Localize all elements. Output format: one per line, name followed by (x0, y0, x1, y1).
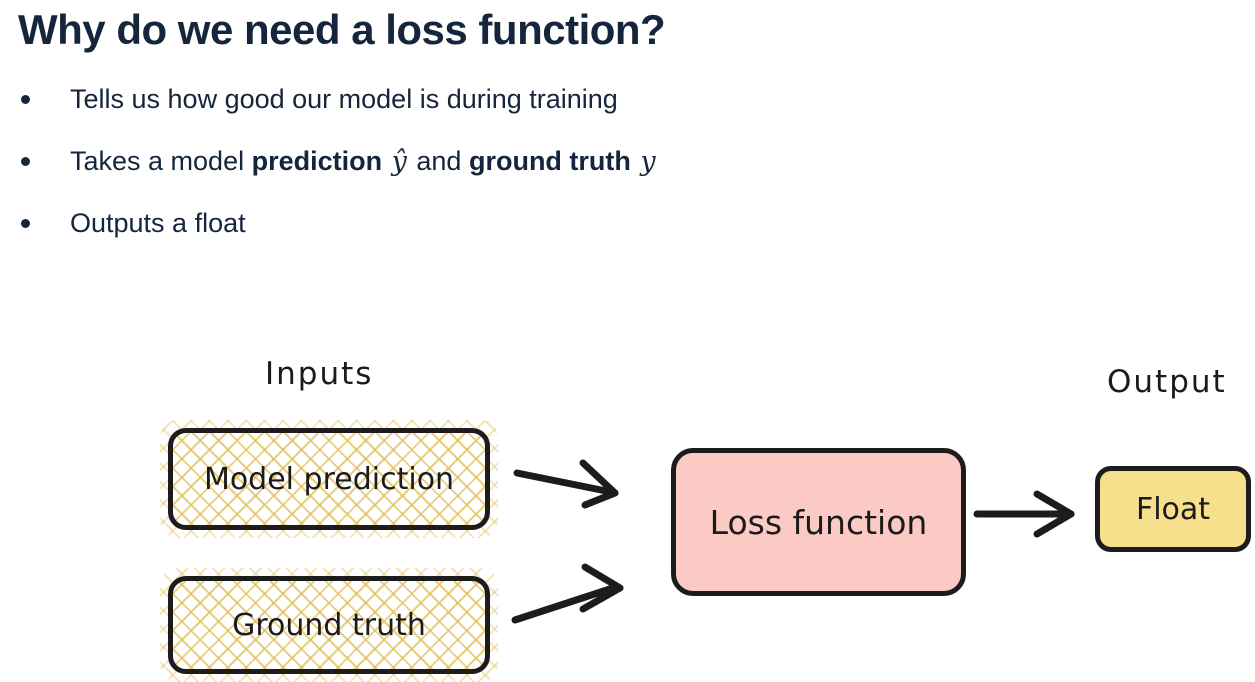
diagram-label-inputs: Inputs (265, 356, 373, 392)
diagram-label-output: Output (1107, 364, 1227, 400)
loss-function-diagram: Inputs Output Model prediction Ground tr… (0, 0, 1255, 680)
diagram-node-ground-truth[interactable]: Ground truth (168, 576, 490, 674)
diagram-node-float[interactable]: Float (1095, 466, 1251, 552)
arrow-icon-groundtruth-to-loss (513, 565, 628, 635)
arrow-icon-loss-to-float (975, 490, 1075, 540)
diagram-node-model-prediction[interactable]: Model prediction (168, 428, 490, 530)
diagram-node-loss-function[interactable]: Loss function (671, 448, 966, 596)
arrow-icon-prediction-to-loss (515, 455, 625, 515)
